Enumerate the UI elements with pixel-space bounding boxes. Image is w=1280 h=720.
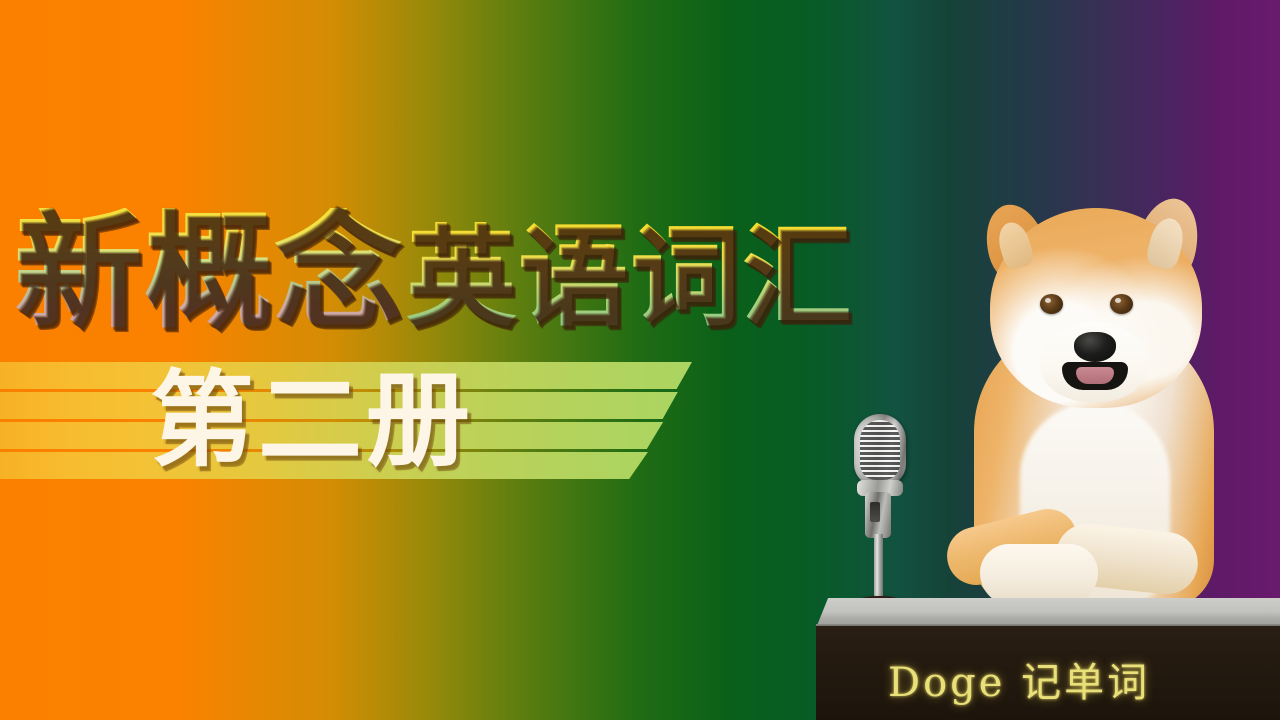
doge-eye-right [1110, 294, 1133, 314]
microphone-icon [840, 414, 920, 614]
thumbnail-canvas: 新概念 英语词汇 第二册 [0, 0, 1280, 720]
microphone-head [854, 414, 906, 486]
subtitle-text: 第二册 [150, 366, 474, 475]
doge-dog-image [928, 196, 1260, 608]
channel-caption: Doge 记单词 [888, 650, 1280, 708]
doge-tongue [1076, 367, 1114, 384]
doge-eye-left [1040, 294, 1063, 314]
microphone-grille [860, 420, 900, 480]
microphone-switch [870, 502, 880, 522]
title-part-a: 新概念 [14, 208, 404, 336]
doge-paw-front [980, 544, 1098, 606]
doge-mouth [1062, 362, 1128, 390]
microphone-stem [874, 534, 883, 600]
page-title: 新概念 英语词汇 [14, 186, 1024, 336]
title-part-b: 英语词汇 [406, 222, 854, 332]
doge-nose [1074, 332, 1116, 362]
